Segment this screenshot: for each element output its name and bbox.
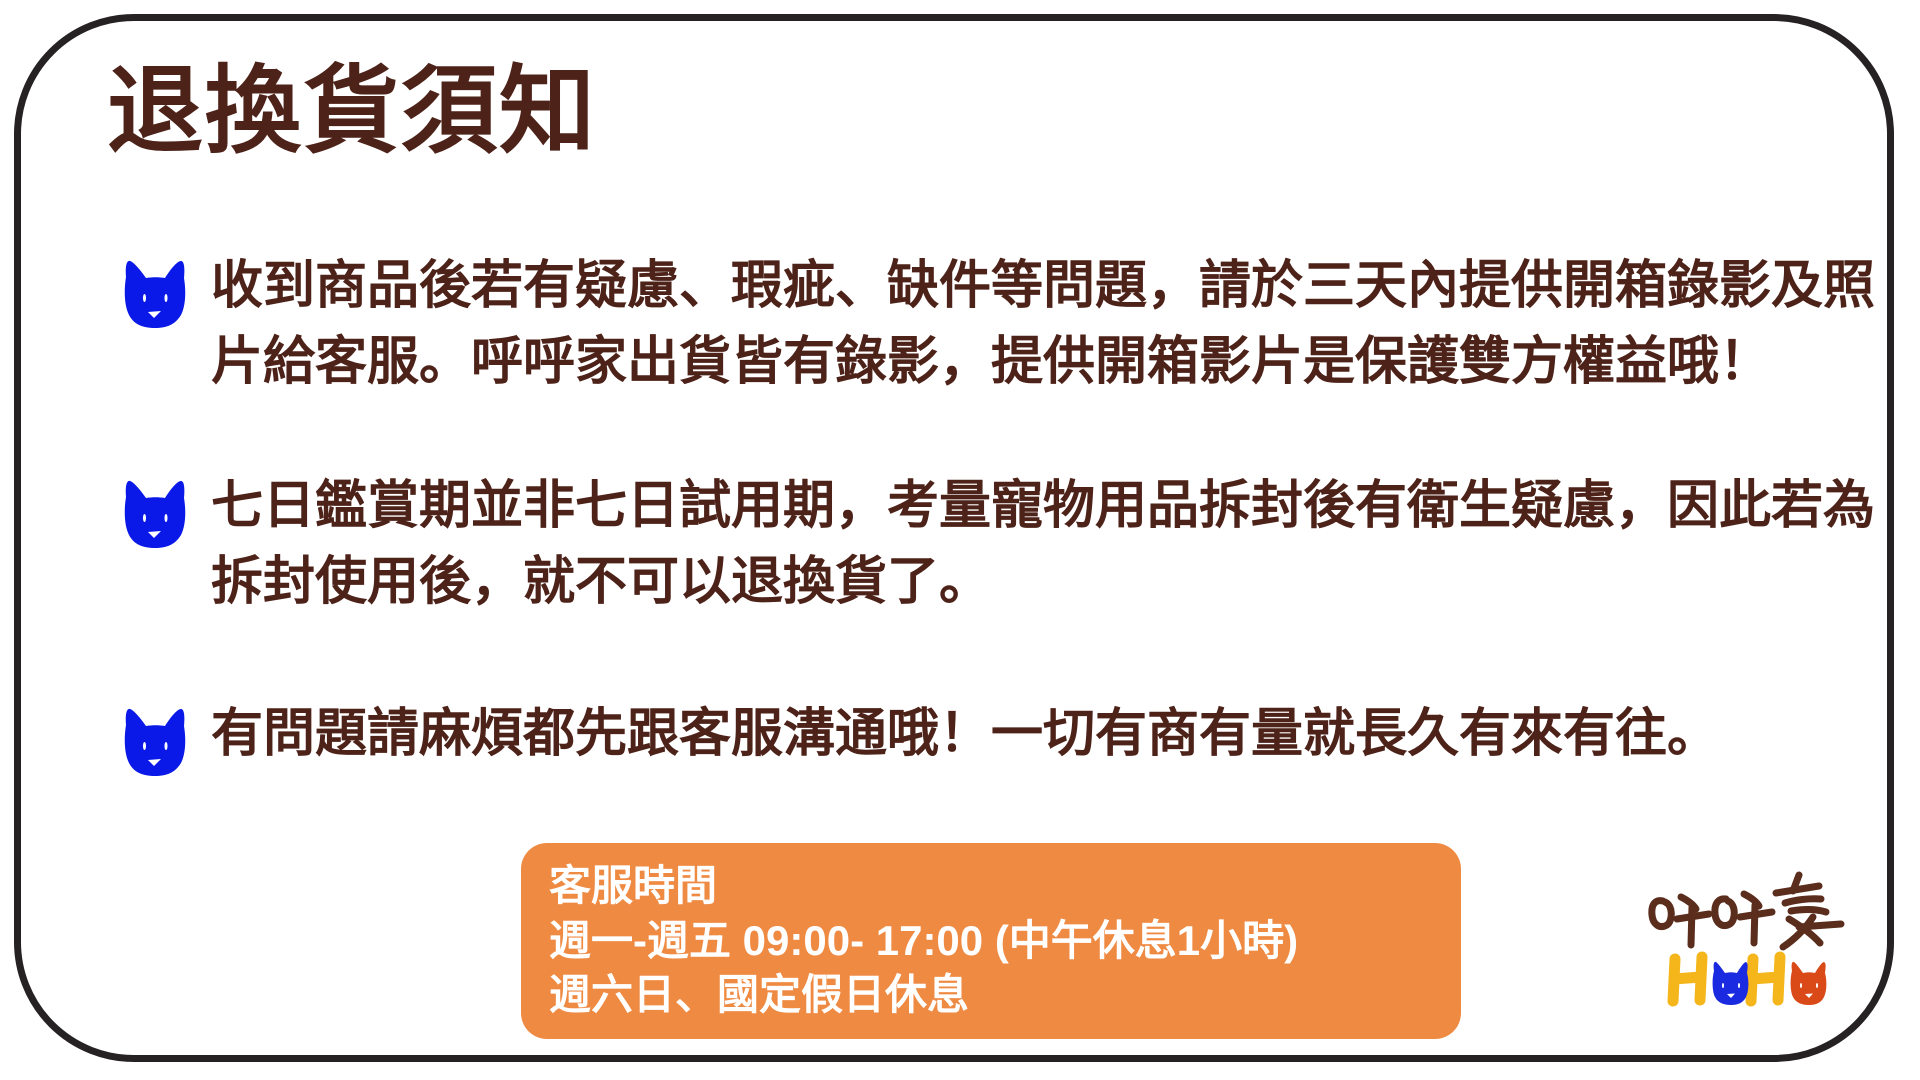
page-title: 退換貨須知 xyxy=(107,59,597,165)
list-item: 七日鑑賞期並非七日試用期，考量寵物用品拆封後有衛生疑慮，因此若為拆封使用後，就不… xyxy=(121,469,1881,621)
list-item-text: 有問題請麻煩都先跟客服溝通哦！一切有商有量就長久有來有往。 xyxy=(211,697,1881,773)
hours-weekday: 週一-週五 09:00- 17:00 (中午休息1小時) xyxy=(549,914,1433,969)
cat-head-icon xyxy=(121,257,189,329)
hours-heading: 客服時間 xyxy=(549,859,1433,914)
notice-card: 退換貨須知 收到商品後若有疑慮、瑕疵、缺件等問題，請於三天內提供開箱錄影及照片給… xyxy=(14,14,1894,1062)
cat-head-icon xyxy=(121,705,189,777)
list-item: 有問題請麻煩都先跟客服溝通哦！一切有商有量就長久有來有往。 xyxy=(121,697,1881,777)
list-item-text: 收到商品後若有疑慮、瑕疵、缺件等問題，請於三天內提供開箱錄影及照片給客服。呼呼家… xyxy=(211,249,1881,401)
customer-service-hours-box: 客服時間 週一-週五 09:00- 17:00 (中午休息1小時) 週六日、國定… xyxy=(521,843,1461,1039)
hours-weekend: 週六日、國定假日休息 xyxy=(549,968,1433,1023)
brand-logo xyxy=(1613,867,1853,1019)
list-item: 收到商品後若有疑慮、瑕疵、缺件等問題，請於三天內提供開箱錄影及照片給客服。呼呼家… xyxy=(121,249,1881,401)
cat-head-icon xyxy=(121,477,189,549)
list-item-text: 七日鑑賞期並非七日試用期，考量寵物用品拆封後有衛生疑慮，因此若為拆封使用後，就不… xyxy=(211,469,1881,621)
